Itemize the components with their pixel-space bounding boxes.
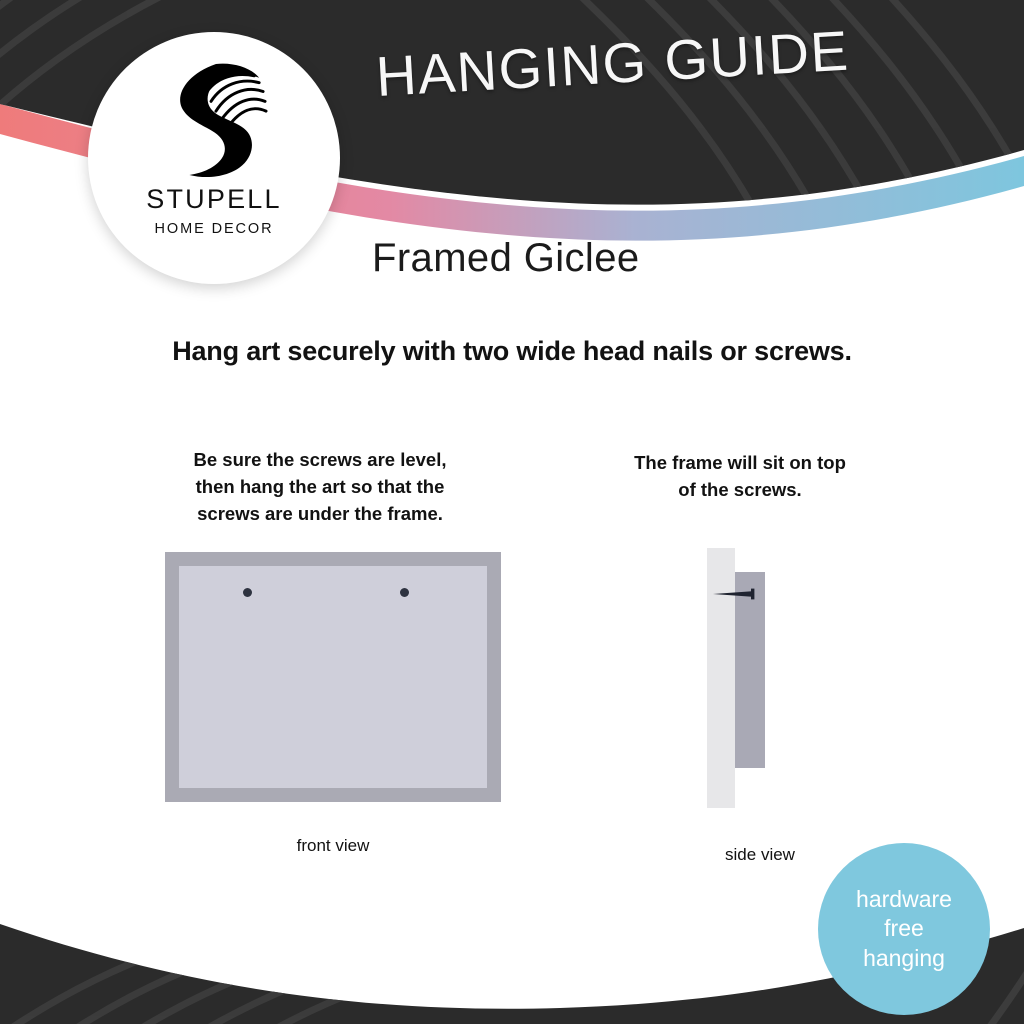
main-instruction-text: Hang art securely with two wide head nai… — [0, 336, 1024, 367]
caption-line: Be sure the screws are level, — [150, 447, 490, 474]
badge-line: hanging — [863, 944, 945, 973]
page-title: HANGING GUIDE — [374, 18, 851, 109]
badge-line: free — [884, 914, 924, 943]
brand-logo-badge: STUPELL HOME DECOR — [88, 32, 340, 284]
stupell-swirl-logo-icon — [160, 58, 268, 180]
frame-strip — [735, 572, 765, 768]
caption-line: of the screws. — [600, 477, 880, 504]
side-view-frame-diagram — [707, 548, 817, 810]
logo-name: STUPELL — [146, 186, 281, 213]
hardware-free-hanging-badge: hardware free hanging — [818, 843, 990, 1015]
front-view-frame-diagram — [165, 552, 501, 802]
logo-subtitle: HOME DECOR — [155, 222, 274, 237]
hanging-guide-poster: STUPELL HOME DECOR HANGING GUIDE Framed … — [0, 0, 1024, 1024]
screw-dot-left-icon — [243, 588, 252, 597]
wall-strip — [707, 548, 735, 808]
caption-line: then hang the art so that the — [150, 474, 490, 501]
screw-dot-right-icon — [400, 588, 409, 597]
badge-line: hardware — [856, 885, 952, 914]
side-view-caption: The frame will sit on top of the screws. — [600, 450, 880, 504]
front-view-caption: Be sure the screws are level, then hang … — [150, 447, 490, 527]
nail-icon — [712, 588, 760, 600]
caption-line: screws are under the frame. — [150, 501, 490, 528]
product-type-heading: Framed Giclee — [372, 236, 640, 281]
side-view-label: side view — [660, 845, 860, 865]
frame-mat-area — [179, 566, 487, 788]
front-view-label: front view — [165, 836, 501, 856]
caption-line: The frame will sit on top — [600, 450, 880, 477]
